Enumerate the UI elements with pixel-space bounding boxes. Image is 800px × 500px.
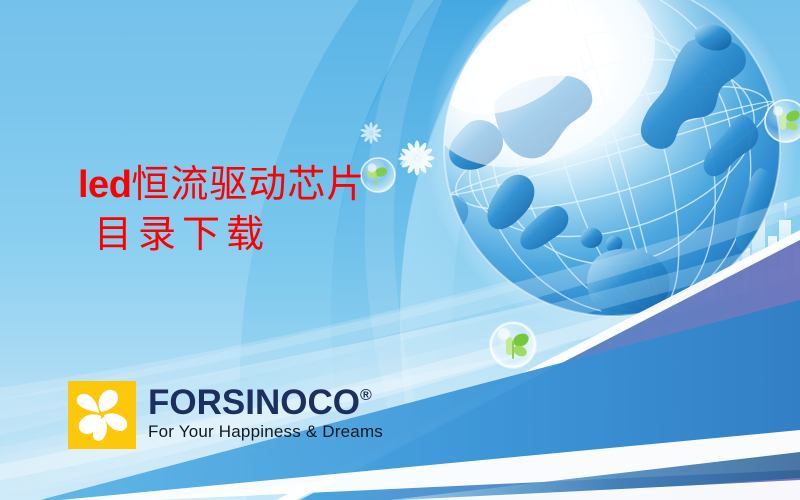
daisy-large (400, 141, 435, 176)
logo-tagline: For Your Happiness & Dreams (148, 422, 383, 442)
daisy-small (360, 122, 382, 144)
registered-trademark-icon: ® (360, 387, 372, 404)
forsinoco-logo[interactable]: FORSINOCO® For Your Happiness & Dreams (68, 381, 383, 449)
headline-cjk: 恒流驱动芯片 (131, 162, 365, 206)
eco-bubble-lower (489, 321, 537, 369)
headline-latin: led (78, 164, 131, 206)
forsinoco-pinwheel-mark (68, 381, 136, 449)
headline-line-2: 目录下载 (94, 210, 365, 259)
logo-wordmark-text: FORSINOCO (148, 383, 360, 422)
daisy-tiny (398, 151, 414, 167)
eco-bubble-left (361, 158, 395, 192)
logo-wordmark: FORSINOCO® (148, 385, 383, 420)
eco-bubble-right (765, 100, 800, 142)
marketing-banner: led恒流驱动芯片 目录下载 FORSINOCO® For Your Happi… (0, 0, 800, 500)
headline-line-1: led恒流驱动芯片 (78, 160, 365, 210)
headline: led恒流驱动芯片 目录下载 (78, 160, 365, 260)
